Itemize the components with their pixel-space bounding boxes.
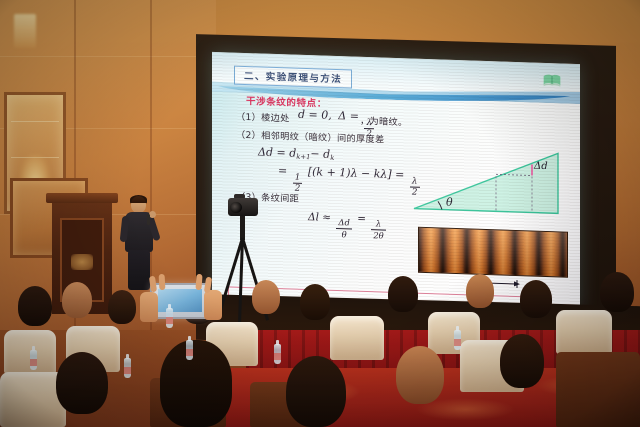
podium-emblem-icon	[71, 254, 93, 270]
water-bottle	[124, 358, 131, 378]
wall-sconce-icon	[14, 14, 36, 48]
presenter-head	[131, 196, 146, 213]
delta-d-label: Δd	[534, 161, 548, 172]
point-1-math-prefix: d = 0,	[298, 108, 332, 122]
interference-fringe-pattern	[418, 227, 568, 278]
wedge-diagram: θ Δd Δ l	[408, 142, 576, 288]
water-bottle	[166, 308, 173, 328]
audience-head	[286, 356, 346, 427]
wedge-triangle-icon	[408, 142, 576, 232]
left-hand	[140, 292, 158, 322]
microphone-icon	[147, 214, 150, 225]
audience-head	[62, 282, 92, 318]
audience-head	[520, 280, 552, 318]
formula-delta-d-line2: = 1 2 [(k + 1)λ − kλ] = λ 2	[278, 164, 422, 198]
open-book-icon	[542, 73, 562, 89]
formula-delta-l: Δl ≈ Δd θ = λ 2θ	[308, 211, 388, 240]
water-bottle	[30, 350, 37, 370]
lecture-hall-photo: 二、实验原理与方法 干涉条纹的特点： （1）棱边处 d = 0, Δ = λ 2…	[0, 0, 640, 427]
audience-head	[252, 280, 280, 314]
point-1-label: （1）棱边处	[236, 109, 290, 125]
chair	[330, 316, 384, 360]
point-1-suffix: ，为暗纹。	[360, 113, 407, 129]
right-hand	[204, 290, 222, 320]
presenter-legs	[128, 250, 150, 290]
audience-head	[466, 274, 494, 308]
slide-heading: 干涉条纹的特点：	[246, 93, 327, 110]
audience-head	[500, 334, 544, 388]
point-1-math-sym: Δ =	[338, 109, 359, 123]
audience-head	[388, 276, 418, 312]
delta-d-over-theta: Δd θ	[336, 218, 351, 238]
audience-head	[56, 352, 108, 414]
video-camera-icon	[228, 198, 258, 216]
water-bottle	[454, 330, 461, 350]
audience-head	[396, 346, 444, 404]
audience-head	[300, 284, 330, 320]
audience-head	[160, 340, 232, 427]
theta-label: θ	[446, 196, 453, 209]
water-bottle	[186, 340, 193, 360]
water-bottle	[274, 344, 281, 364]
lambda-over-2theta: λ 2θ	[371, 220, 385, 240]
audience-head	[18, 286, 52, 326]
formula-delta-d-line1: Δd = dk+1− dk	[258, 145, 334, 162]
chair	[556, 352, 640, 427]
audience-head	[108, 290, 136, 324]
slide-section-title: 二、实验原理与方法	[234, 66, 352, 89]
audience-head	[600, 272, 634, 312]
chair	[556, 310, 612, 354]
presenter-hand	[149, 211, 156, 218]
